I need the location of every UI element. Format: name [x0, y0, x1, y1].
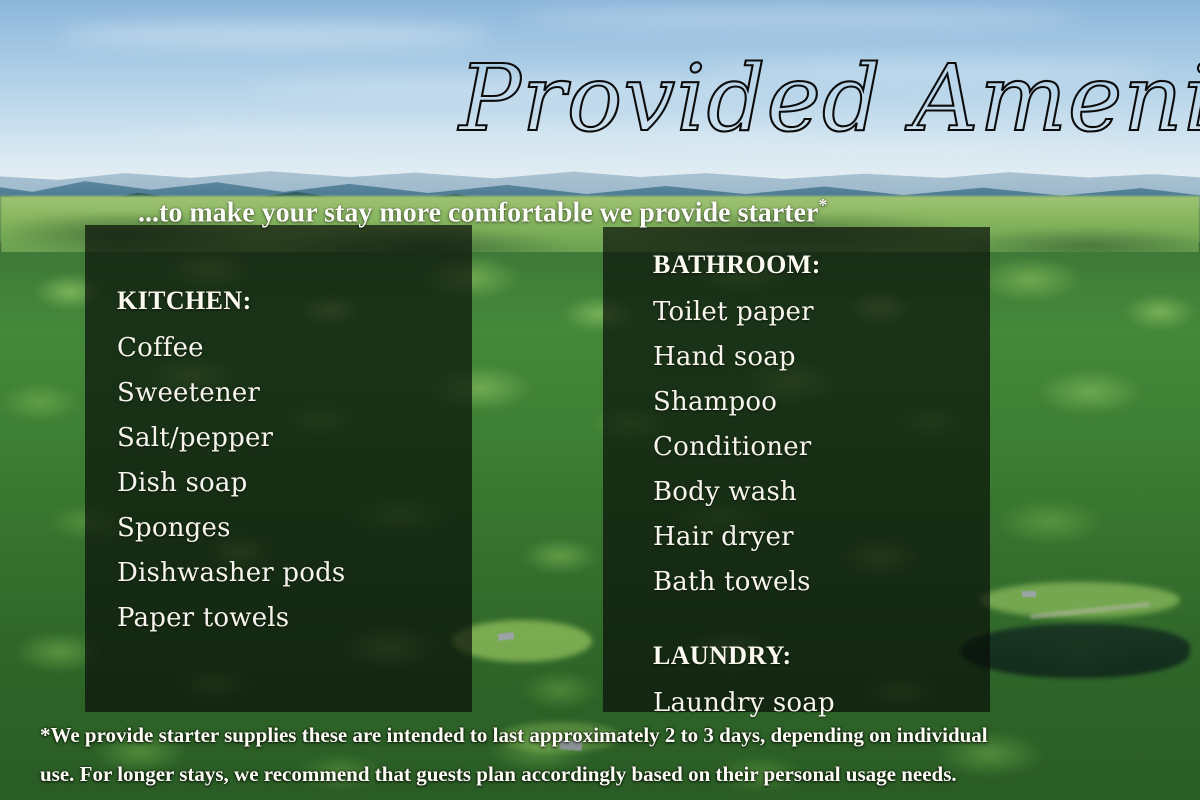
cabin-roof — [1022, 591, 1036, 597]
section-heading-bathroom: BATHROOM: — [653, 250, 993, 280]
footnote: *We provide starter supplies these are i… — [40, 716, 1170, 794]
list-item: Paper towels — [117, 596, 467, 641]
list-item: Salt/pepper — [117, 416, 467, 461]
section-heading-laundry: LAUNDRY: — [653, 641, 993, 671]
list-item: Bath towels — [653, 560, 993, 605]
subtitle-asterisk: * — [818, 195, 827, 215]
cloud-wisp — [60, 22, 490, 48]
list-item: Sweetener — [117, 371, 467, 416]
list-item: Sponges — [117, 506, 467, 551]
cloud-wisp — [640, 140, 1160, 154]
list-item: Coffee — [117, 326, 467, 371]
cloud-wisp — [520, 8, 1080, 28]
list-item: Conditioner — [653, 425, 993, 470]
footnote-line-1: *We provide starter supplies these are i… — [40, 716, 1170, 755]
list-item: Dishwasher pods — [117, 551, 467, 596]
subtitle: ...to make your stay more comfortable we… — [138, 190, 1138, 228]
list-item: Hair dryer — [653, 515, 993, 560]
amenities-poster: Provided Amenities ...to make your stay … — [0, 0, 1200, 800]
kitchen-column: KITCHEN: Coffee Sweetener Salt/pepper Di… — [117, 286, 467, 641]
pond — [960, 624, 1190, 678]
footnote-line-2: use. For longer stays, we recommend that… — [40, 755, 1170, 794]
list-item: Body wash — [653, 470, 993, 515]
list-item: Hand soap — [653, 335, 993, 380]
cloud-wisp — [700, 60, 1160, 82]
section-heading-kitchen: KITCHEN: — [117, 286, 467, 316]
list-item: Dish soap — [117, 461, 467, 506]
bathroom-laundry-column: BATHROOM: Toilet paper Hand soap Shampoo… — [653, 250, 993, 726]
cloud-wisp — [250, 78, 770, 96]
list-item: Shampoo — [653, 380, 993, 425]
subtitle-text: ...to make your stay more comfortable we… — [138, 197, 818, 228]
clearing — [452, 620, 592, 662]
list-item: Toilet paper — [653, 290, 993, 335]
